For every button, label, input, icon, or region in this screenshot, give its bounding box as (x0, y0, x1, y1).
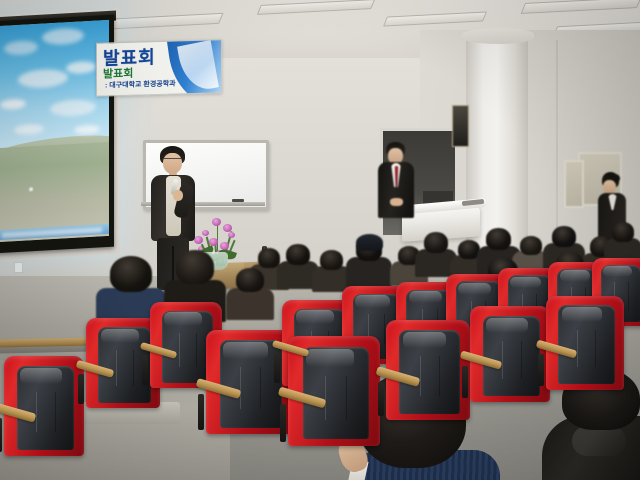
seat-armrest-post (378, 382, 384, 416)
audience-head-6 (424, 232, 448, 253)
orchid-bloom-2 (212, 218, 221, 226)
audience-head-9 (520, 236, 542, 255)
audience-head-15 (236, 268, 264, 292)
seat-emboss (502, 341, 522, 379)
banner-organization: : 대구대학교 환경공학과 (105, 79, 176, 91)
seat-highlight (101, 329, 139, 343)
orchid-bloom-1 (202, 230, 209, 236)
audience-body-4 (346, 257, 392, 287)
orchid-bloom-3 (223, 224, 232, 232)
column-capital (462, 28, 534, 44)
seat-emboss (577, 330, 596, 368)
seat-highlight (486, 318, 528, 333)
power-outlet (14, 262, 23, 273)
auditorium-seat[interactable] (86, 318, 160, 408)
seat-highlight (296, 310, 333, 324)
seat-emboss (116, 350, 134, 386)
whiteboard-marker (232, 199, 244, 202)
orchid-bloom-7 (228, 232, 235, 238)
seat-armrest-post (198, 394, 204, 429)
lecture-hall-photo: 발표회 발표회 : 대구대학교 환경공학과 (0, 0, 640, 480)
audience-head-8 (486, 228, 511, 250)
seat-highlight (562, 307, 603, 322)
jacket-highlight (572, 426, 626, 456)
seat-highlight (355, 295, 389, 307)
audience-head-3 (320, 250, 343, 270)
presenter-hand (173, 190, 183, 201)
audience-head-14 (176, 250, 214, 284)
audience-body-15 (226, 288, 274, 320)
projected-image (0, 20, 109, 242)
audience-head-10 (552, 226, 576, 247)
seat-highlight (223, 342, 268, 359)
wall-banner: 발표회 발표회 : 대구대학교 환경공학과 (96, 39, 222, 97)
seat-armrest-post (78, 374, 84, 405)
seat-emboss (420, 356, 440, 396)
notice-board-2 (564, 160, 584, 208)
seat-armrest-post (538, 354, 544, 386)
seat-armrest-post (280, 404, 286, 441)
woman-face (603, 180, 616, 194)
seat-highlight (403, 332, 447, 348)
seat-emboss (36, 392, 56, 432)
audience-head-12 (612, 222, 634, 242)
seat-highlight (603, 266, 632, 277)
seat-highlight (458, 283, 490, 295)
seat-armrest-post (142, 355, 148, 384)
seat-highlight (409, 291, 442, 303)
seat-emboss (179, 333, 197, 367)
seat-highlight (20, 368, 62, 384)
man-in-black-suit (378, 142, 416, 224)
wall-speaker (452, 105, 469, 147)
auditorium-seat[interactable] (546, 296, 624, 390)
suited-hands (390, 198, 403, 206)
glasses-icon (163, 158, 182, 164)
auditorium-seat[interactable] (386, 320, 470, 420)
beanie-cap-icon (356, 234, 383, 251)
seat-highlight (306, 349, 354, 367)
audience-head-2 (286, 244, 310, 265)
seat-highlight (560, 270, 590, 281)
audience-head-1 (258, 248, 280, 268)
seat-emboss (240, 367, 261, 409)
seat-emboss (325, 376, 347, 420)
seat-armrest-post (274, 353, 280, 382)
seat-armrest-post (462, 366, 468, 399)
seat-highlight (164, 312, 201, 326)
seat-armrest-post (0, 418, 2, 452)
seat-highlight (510, 277, 541, 289)
auditorium-seat[interactable] (4, 356, 84, 456)
audience-head-13 (110, 256, 152, 292)
